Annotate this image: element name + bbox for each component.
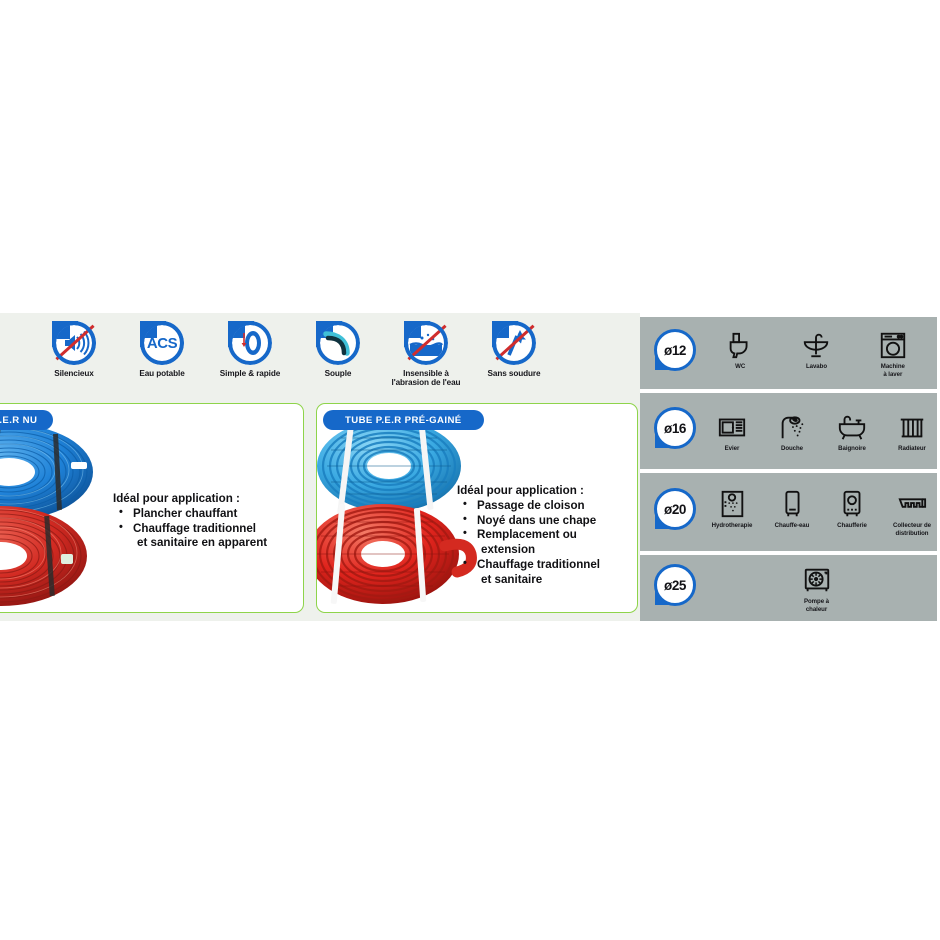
- application-evier: Evier: [702, 412, 762, 452]
- feature-silencieux: Silencieux: [30, 313, 118, 378]
- application-label: Radiateur: [898, 445, 926, 452]
- application-baignoire: Baignoire: [822, 412, 882, 452]
- shower-icon: [777, 412, 807, 442]
- list-item: Chauffage traditionnel et sanitaire: [457, 558, 600, 587]
- sink-basin-icon: [801, 330, 831, 360]
- diameter-badge-16: ø16: [654, 407, 696, 449]
- application-label: Evier: [725, 445, 740, 452]
- boiler-room-icon: [837, 489, 867, 519]
- card-badge-tube-per-pre-gaine: TUBE P.E.R PRÉ-GAINÉ: [323, 410, 484, 430]
- feature-strip: Silencieux ACS Eau potable: [0, 313, 640, 393]
- list-item: Plancher chauffant: [113, 507, 267, 522]
- application-label: Chauffe-eau: [775, 522, 810, 529]
- kitchen-sink-icon: [717, 412, 747, 442]
- ideal-list: Passage de cloison Noyé dans une chape R…: [457, 499, 600, 587]
- product-card-tube-per-pre-gaine: TUBE P.E.R PRÉ-GAINÉ: [316, 403, 638, 613]
- diameter-row-20: ø20: [640, 473, 937, 551]
- list-item: Chauffage traditionnel et sanitaire en a…: [113, 522, 267, 551]
- feature-souple: Souple: [294, 313, 382, 378]
- diameter-label: ø20: [654, 488, 696, 530]
- feature-sans-soudure: Sans soudure: [470, 313, 558, 378]
- flexible-bend-icon: [316, 321, 360, 365]
- heat-pump-icon: [802, 565, 832, 595]
- application-chauffe-eau: Chauffe-eau: [762, 489, 822, 529]
- feature-label: Eau potable: [139, 369, 184, 378]
- speaker-muted-icon: [52, 321, 96, 365]
- application-label: Hydrotherapie: [712, 522, 753, 529]
- washing-machine-icon: [878, 330, 908, 360]
- application-label: Baignoire: [838, 445, 866, 452]
- list-item-cont: et sanitaire en apparent: [133, 536, 267, 551]
- red-sheathed-coil: [317, 504, 471, 604]
- diameter-label: ø25: [654, 564, 696, 606]
- diameter-label: ø12: [654, 329, 696, 371]
- diameter-label: ø16: [654, 407, 696, 449]
- radiator-icon: [897, 412, 927, 442]
- diameter-row-16: ø16 Evier: [640, 393, 937, 469]
- blue-pipe-coil: [0, 424, 93, 520]
- card-badge-tube-per-nu: TUBE P.E.R NU: [0, 410, 53, 430]
- diameter-items: Pompe à chaleur: [696, 565, 937, 613]
- feature-label: Insensible à l'abrasion de l'eau: [392, 369, 461, 388]
- diameter-items: Hydrotherapie Chauffe-eau: [696, 489, 940, 537]
- ideal-block-nu: Idéal pour application : Plancher chauff…: [113, 492, 267, 551]
- no-welding-icon: [492, 321, 536, 365]
- diameter-items: WC Lavabo: [696, 330, 937, 378]
- application-wc: WC: [710, 330, 770, 370]
- application-label: Douche: [781, 445, 803, 452]
- ideal-list: Plancher chauffant Chauffage traditionne…: [113, 507, 267, 551]
- feature-simple-rapide: Simple & rapide: [206, 313, 294, 378]
- diameter-row-12: ø12 WC: [640, 317, 937, 389]
- blue-sheathed-coil: [317, 418, 461, 514]
- ideal-title: Idéal pour application :: [457, 484, 600, 497]
- diameter-badge-20: ø20: [654, 488, 696, 530]
- list-item-text: Noyé dans une chape: [477, 514, 596, 527]
- list-item: Remplacement ou extension: [457, 528, 600, 557]
- diameter-row-25: ø25: [640, 555, 937, 621]
- application-label: Collecteur de distribution: [893, 522, 931, 537]
- list-item-text: Remplacement ou: [477, 528, 577, 541]
- feature-eau-potable: ACS Eau potable: [118, 313, 206, 378]
- water-abrasion-crossed-icon: [404, 321, 448, 365]
- ideal-title: Idéal pour application :: [113, 492, 267, 505]
- water-heater-icon: [777, 489, 807, 519]
- application-lavabo: Lavabo: [786, 330, 846, 370]
- list-item-cont: extension: [477, 543, 600, 558]
- application-douche: Douche: [762, 412, 822, 452]
- list-item: Noyé dans une chape: [457, 514, 600, 529]
- application-label: Pompe à chaleur: [804, 598, 829, 613]
- application-radiateur: Radiateur: [882, 412, 940, 452]
- list-item-text: Chauffage traditionnel: [133, 522, 256, 535]
- product-banner: Silencieux ACS Eau potable: [0, 313, 940, 621]
- bathtub-icon: [837, 412, 867, 442]
- application-collecteur-distribution: Collecteur de distribution: [882, 489, 940, 537]
- ideal-block-pre-gaine: Idéal pour application : Passage de cloi…: [457, 484, 600, 587]
- application-label: WC: [735, 363, 745, 370]
- red-pipe-coil: [0, 506, 87, 606]
- application-label: Machine à laver: [881, 363, 905, 378]
- feature-label: Sans soudure: [488, 369, 541, 378]
- application-label: Chaufferie: [837, 522, 867, 529]
- hydrotherapy-icon: [717, 489, 747, 519]
- application-pompe-a-chaleur: Pompe à chaleur: [787, 565, 847, 613]
- list-item-text: Passage de cloison: [477, 499, 585, 512]
- diameter-badge-25: ø25: [654, 564, 696, 606]
- coil-roll-icon: [228, 321, 272, 365]
- feature-label: Silencieux: [54, 369, 94, 378]
- application-hydrotherapie: Hydrotherapie: [702, 489, 762, 529]
- toilet-icon: [725, 330, 755, 360]
- diameter-badge-12: ø12: [654, 329, 696, 371]
- application-label: Lavabo: [806, 363, 827, 370]
- diameter-application-section: ø12 WC: [640, 313, 940, 621]
- list-item-text: Plancher chauffant: [133, 507, 237, 520]
- distribution-manifold-icon: [897, 489, 927, 519]
- feature-label: Souple: [325, 369, 352, 378]
- product-card-tube-per-nu: TUBE P.E.R NU: [0, 403, 304, 613]
- feature-insensible-abrasion: Insensible à l'abrasion de l'eau: [382, 313, 470, 388]
- feature-label: Simple & rapide: [220, 369, 280, 378]
- application-machine-a-laver: Machine à laver: [863, 330, 923, 378]
- acs-certification-icon: ACS: [140, 321, 184, 365]
- list-item-cont: et sanitaire: [477, 573, 600, 588]
- diameter-items: Evier: [696, 412, 940, 452]
- list-item: Passage de cloison: [457, 499, 600, 514]
- list-item-text: Chauffage traditionnel: [477, 558, 600, 571]
- application-chaufferie: Chaufferie: [822, 489, 882, 529]
- left-section: Silencieux ACS Eau potable: [0, 313, 640, 621]
